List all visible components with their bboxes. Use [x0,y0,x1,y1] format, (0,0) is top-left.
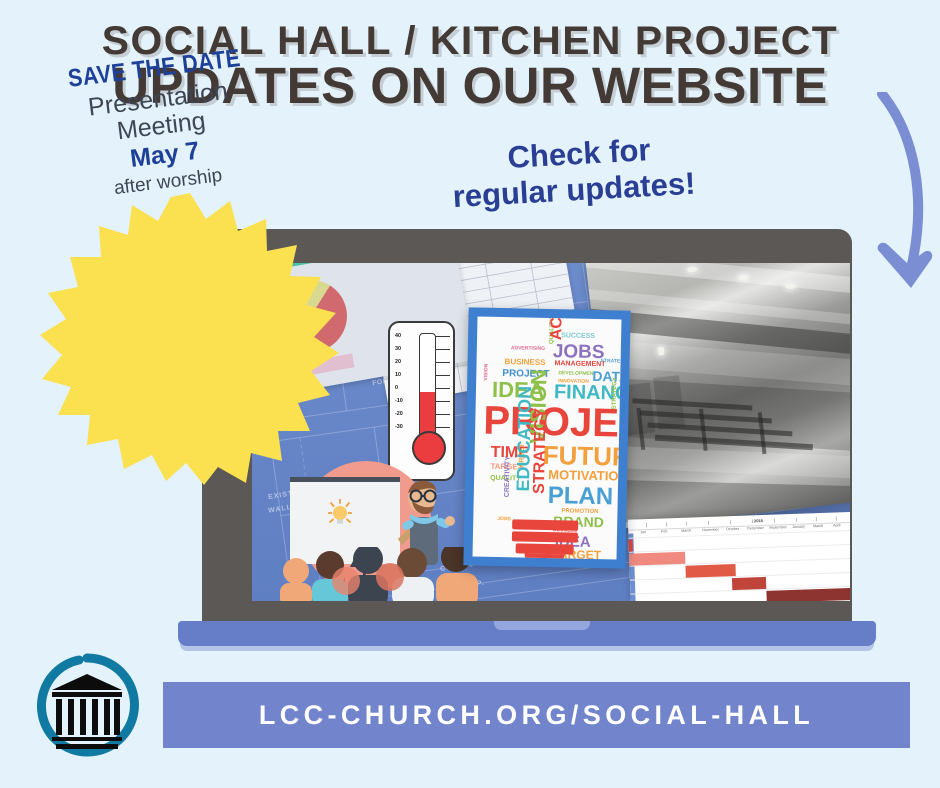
word-cloud-word: DEVELOPMENT [558,371,596,377]
gantt-month: November [702,528,719,533]
lightbulb-icon [328,499,352,529]
word-cloud-word: ACTION [549,317,566,341]
word-cloud-word: JOBS [497,517,511,522]
thermometer-tube [419,333,436,443]
gantt-month: October [726,527,739,531]
word-cloud-word: PLAN [548,484,614,509]
thermometer-graphic: 40 30 20 10 0 -10 -20 -30 [388,321,455,481]
project-word-cloud-card: SUCCESSJOBSADVERTISINGBUSINESSQUALITYMAN… [463,307,630,568]
word-cloud-word: STRATEGY [532,408,550,494]
word-cloud-word: VISION [484,364,489,381]
thermometer-tick-label: 10 [395,372,401,378]
word-cloud-word: CREATIVITY [504,456,512,497]
word-cloud-word: ADVERTISING [511,346,545,352]
thermometer-tick-label: 0 [395,385,398,391]
laptop-trackpad-notch [494,621,590,630]
thermometer-tick-label: -20 [395,411,403,417]
gantt-bar [629,552,685,566]
word-cloud-word: MANAGEMENT [554,360,605,368]
building-icon [52,674,122,749]
gantt-month: January [792,525,805,529]
word-cloud-word: PROJECT [483,401,622,445]
word-cloud-word: BUSINESS [504,358,545,367]
gantt-chart: 2018 Jan Feb March November October Dece… [628,510,850,601]
gantt-month: April [833,523,840,527]
website-url-text: LCC-CHURCH.ORG/SOCIAL-HALL [259,700,814,731]
gantt-month: March [681,529,691,533]
poster-canvas: SOCIAL HALL / KITCHEN PROJECT UPDATES ON… [0,0,940,788]
gantt-bar [629,540,633,552]
gantt-title: 2018 [754,518,763,523]
gantt-month: March [813,524,823,528]
save-the-date-starburst [40,193,340,485]
word-cloud-word: MOTIVATION [548,468,621,483]
thermometer-tick-label: -30 [395,424,403,430]
starburst-text: SAVE THE DATE Presentation Meeting May 7… [48,42,273,207]
church-building-logo[interactable] [32,650,142,760]
laptop-screen: WTG HALL SEE ROOF PLAN FOR RIDGE BEAM MA… [252,263,850,601]
word-cloud-word: JOBS [553,342,605,362]
gantt-bar [732,577,766,590]
word-cloud-word: STRATEGY [612,377,619,409]
gantt-month: Jan [640,530,646,534]
word-cloud-word: STRATEGY [601,359,622,365]
word-cloud-word: FUTURE [542,442,621,470]
gantt-bar [685,564,735,578]
title-line-1: SOCIAL HALL / KITCHEN PROJECT [0,22,940,60]
thermometer-tick-label: 20 [395,359,401,365]
gantt-month: December [747,526,764,531]
thermometer-tick-label: -10 [395,398,403,404]
word-cloud-canvas: SUCCESSJOBSADVERTISINGBUSINESSQUALITYMAN… [473,317,622,560]
thermometer-tick-label: 30 [395,346,401,352]
gantt-month: September [769,525,787,530]
website-url-bar[interactable]: LCC-CHURCH.ORG/SOCIAL-HALL [163,682,910,748]
thermometer-tick-label: 40 [395,333,401,339]
gantt-month: Feb [661,529,667,533]
word-cloud-word: SUCCESS [561,332,595,340]
callout-text: Check for regular updates! [413,127,746,217]
